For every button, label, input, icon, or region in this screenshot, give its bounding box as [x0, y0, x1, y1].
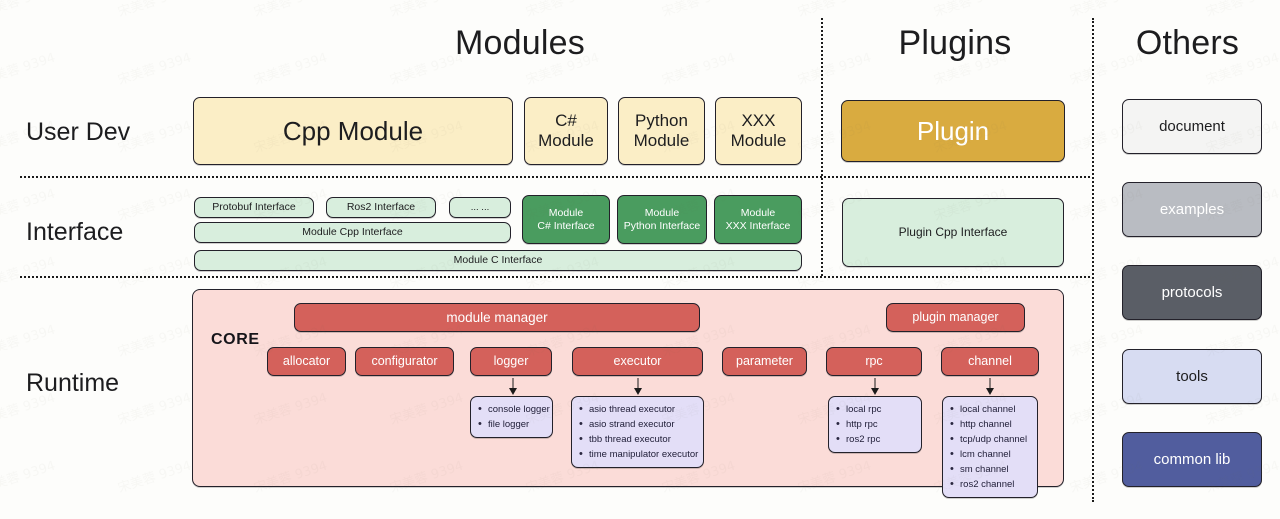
watermark-text: 宋美蓉 9394: [115, 47, 193, 89]
node-channel[interactable]: channel: [941, 347, 1039, 376]
list-item: asio thread executor: [578, 402, 695, 417]
divider-plugins-others: [1092, 18, 1094, 502]
watermark-text: 宋美蓉 9394: [795, 0, 873, 20]
list-item: ros2 channel: [949, 477, 1029, 492]
logger-item-list: console loggerfile logger: [477, 402, 544, 432]
list-rpc-items: local rpchttp rpcros2 rpc: [828, 396, 922, 453]
watermark-text: 宋美蓉 9394: [387, 0, 465, 20]
arrow-channel-to-list: [984, 378, 996, 394]
watermark-text: 宋美蓉 9394: [115, 319, 193, 361]
node-plugin-cpp-interface[interactable]: Plugin Cpp Interface: [842, 198, 1064, 267]
watermark-text: 宋美蓉 9394: [0, 0, 57, 20]
node-plugin[interactable]: Plugin: [841, 100, 1065, 162]
row-label-interface: Interface: [26, 218, 123, 247]
arrow-rpc-to-list: [869, 378, 881, 394]
node-module-cpp-interface[interactable]: Module Cpp Interface: [194, 222, 511, 243]
divider-interface-runtime: [20, 276, 1090, 278]
node-xxx-module[interactable]: XXX Module: [715, 97, 802, 165]
watermark-text: 宋美蓉 9394: [115, 455, 193, 497]
node-document[interactable]: document: [1122, 99, 1262, 154]
column-header-others: Others: [1105, 24, 1270, 63]
list-item: local channel: [949, 402, 1029, 417]
watermark-text: 宋美蓉 9394: [523, 0, 601, 20]
core-label: CORE: [211, 331, 260, 349]
watermark-text: 宋美蓉 9394: [1203, 0, 1280, 20]
arrow-executor-to-list: [632, 378, 644, 394]
list-item: asio strand executor: [578, 417, 695, 432]
channel-item-list: local channelhttp channeltcp/udp channel…: [949, 402, 1029, 492]
watermark-text: 宋美蓉 9394: [931, 0, 1009, 20]
node-executor[interactable]: executor: [572, 347, 703, 376]
list-item: local rpc: [835, 402, 913, 417]
node-configurator[interactable]: configurator: [355, 347, 454, 376]
list-item: file logger: [477, 417, 544, 432]
node-examples[interactable]: examples: [1122, 182, 1262, 237]
arrow-logger-to-list: [507, 378, 519, 394]
node-module-c-interface[interactable]: Module C Interface: [194, 250, 802, 271]
watermark-text: 宋美蓉 9394: [251, 0, 329, 20]
node-rpc[interactable]: rpc: [826, 347, 922, 376]
list-item: http channel: [949, 417, 1029, 432]
list-item: http rpc: [835, 417, 913, 432]
row-label-runtime: Runtime: [26, 369, 119, 398]
watermark-text: 宋美蓉 9394: [1067, 0, 1145, 20]
watermark-text: 宋美蓉 9394: [115, 183, 193, 225]
node-csharp-module[interactable]: C# Module: [524, 97, 608, 165]
node-protocols[interactable]: protocols: [1122, 265, 1262, 320]
list-item: console logger: [477, 402, 544, 417]
list-item: sm channel: [949, 462, 1029, 477]
node-module-xxx-interface[interactable]: Module XXX Interface: [714, 195, 802, 244]
watermark-text: 宋美蓉 9394: [251, 47, 329, 89]
list-channel-items: local channelhttp channeltcp/udp channel…: [942, 396, 1038, 498]
watermark-text: 宋美蓉 9394: [0, 319, 57, 361]
list-executor-items: asio thread executorasio strand executor…: [571, 396, 704, 468]
watermark-text: 宋美蓉 9394: [115, 251, 193, 293]
node-other-interface[interactable]: ... ...: [449, 197, 511, 218]
node-allocator[interactable]: allocator: [267, 347, 346, 376]
list-item: tbb thread executor: [578, 432, 695, 447]
watermark-text: 宋美蓉 9394: [115, 387, 193, 429]
architecture-diagram: 宋美蓉 9394宋美蓉 9394宋美蓉 9394宋美蓉 9394宋美蓉 9394…: [0, 0, 1280, 519]
node-module-csharp-interface[interactable]: Module C# Interface: [522, 195, 610, 244]
executor-item-list: asio thread executorasio strand executor…: [578, 402, 695, 462]
node-logger[interactable]: logger: [470, 347, 552, 376]
node-module-python-interface[interactable]: Module Python Interface: [617, 195, 707, 244]
node-common-lib[interactable]: common lib: [1122, 432, 1262, 487]
list-item: time manipulator executor: [578, 447, 695, 462]
node-protobuf-interface[interactable]: Protobuf Interface: [194, 197, 314, 218]
column-header-plugins: Plugins: [840, 24, 1070, 63]
watermark-text: 宋美蓉 9394: [0, 455, 57, 497]
watermark-text: 宋美蓉 9394: [659, 0, 737, 20]
node-ros2-interface[interactable]: Ros2 Interface: [326, 197, 436, 218]
node-python-module[interactable]: Python Module: [618, 97, 705, 165]
row-label-user-dev: User Dev: [26, 118, 130, 147]
node-tools[interactable]: tools: [1122, 349, 1262, 404]
node-parameter[interactable]: parameter: [722, 347, 807, 376]
list-logger-items: console loggerfile logger: [470, 396, 553, 438]
node-module-manager[interactable]: module manager: [294, 303, 700, 332]
rpc-item-list: local rpchttp rpcros2 rpc: [835, 402, 913, 447]
watermark-text: 宋美蓉 9394: [0, 251, 57, 293]
list-item: lcm channel: [949, 447, 1029, 462]
divider-modules-plugins: [821, 18, 823, 276]
list-item: tcp/udp channel: [949, 432, 1029, 447]
list-item: ros2 rpc: [835, 432, 913, 447]
watermark-text: 宋美蓉 9394: [0, 47, 57, 89]
column-header-modules: Modules: [330, 24, 710, 63]
node-plugin-manager[interactable]: plugin manager: [886, 303, 1025, 332]
watermark-text: 宋美蓉 9394: [115, 0, 193, 20]
divider-userdev-interface: [20, 176, 1090, 178]
node-cpp-module[interactable]: Cpp Module: [193, 97, 513, 165]
